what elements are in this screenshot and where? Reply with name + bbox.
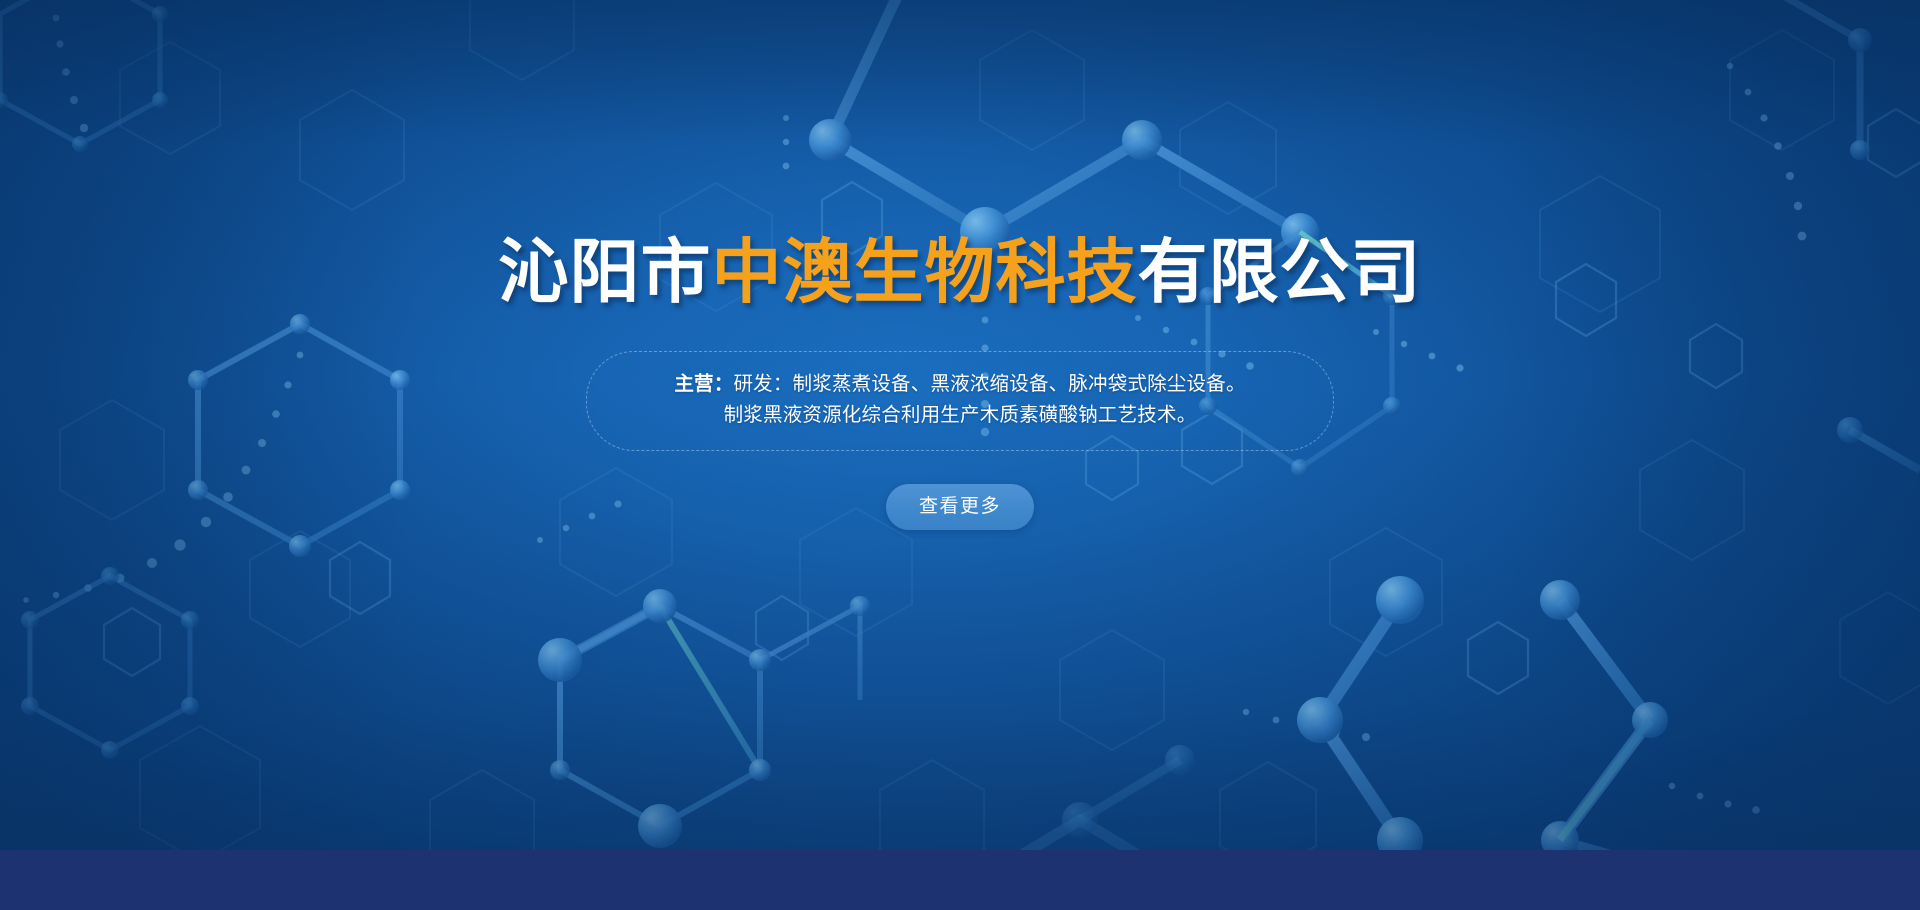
title-accent: 中澳生物科技 bbox=[712, 233, 1138, 311]
view-more-button[interactable]: 查看更多 bbox=[886, 484, 1034, 530]
hero-banner: 沁阳市中澳生物科技有限公司 主营：研发：制浆蒸煮设备、黑液浓缩设备、脉冲袋式除尘… bbox=[0, 0, 1920, 910]
tagline-box: 主营：研发：制浆蒸煮设备、黑液浓缩设备、脉冲袋式除尘设备。 制浆黑液资源化综合利… bbox=[586, 351, 1334, 451]
tagline-lead-label: 主营： bbox=[674, 373, 733, 395]
page-title: 沁阳市中澳生物科技有限公司 bbox=[499, 236, 1422, 309]
banner-content: 沁阳市中澳生物科技有限公司 主营：研发：制浆蒸煮设备、黑液浓缩设备、脉冲袋式除尘… bbox=[0, 0, 1920, 850]
title-prefix: 沁阳市 bbox=[499, 233, 712, 311]
tagline-line-1-text: 研发：制浆蒸煮设备、黑液浓缩设备、脉冲袋式除尘设备。 bbox=[733, 373, 1245, 395]
tagline-line-1: 主营：研发：制浆蒸煮设备、黑液浓缩设备、脉冲袋式除尘设备。 bbox=[627, 369, 1293, 400]
title-suffix: 有限公司 bbox=[1138, 233, 1422, 311]
footer-strip bbox=[0, 850, 1920, 910]
tagline-line-2: 制浆黑液资源化综合利用生产木质素磺酸钠工艺技术。 bbox=[627, 400, 1293, 431]
